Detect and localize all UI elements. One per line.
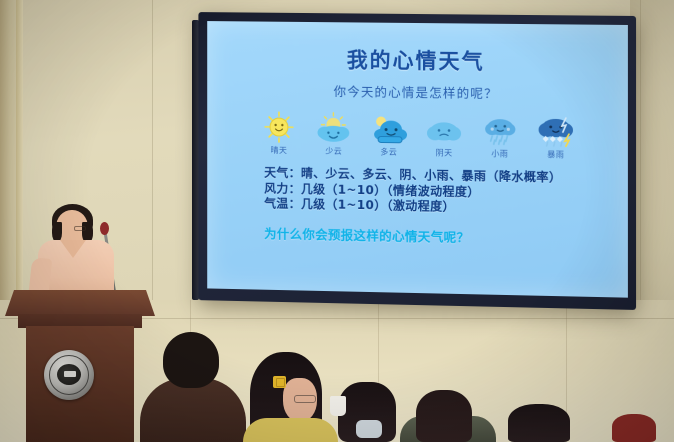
weather-item-rainstorm: 暴雨	[528, 115, 583, 161]
weather-label: 阴天	[417, 147, 471, 159]
weather-label: 小雨	[473, 148, 527, 160]
wall-seam	[152, 0, 153, 300]
wall-shadow-right	[630, 0, 674, 300]
lower-wall-seam	[566, 300, 567, 420]
slide-content: 我的心情天气 你今天的心情是怎样的呢？	[207, 21, 628, 298]
face-mask	[356, 420, 382, 438]
audience-member-5	[508, 404, 570, 442]
emblem-center	[57, 364, 81, 385]
slide-text-block: 天气：晴、少云、多云、阴、小雨、暴雨（降水概率） 风力：几级（1~10）（情绪波…	[264, 166, 611, 249]
university-emblem	[44, 350, 94, 400]
podium-top	[5, 290, 155, 316]
speaker-glasses	[74, 226, 86, 231]
weather-label: 多云	[362, 146, 416, 158]
paper-cup	[330, 396, 346, 416]
slide-question: 为什么你会预报这样的心情天气呢？	[264, 223, 611, 249]
audience-member-3	[416, 390, 472, 442]
hair-clip-icon	[273, 376, 286, 388]
sun-behind-cloud-icon	[307, 112, 361, 145]
overcast-cloud-icon	[417, 113, 471, 146]
sun-icon	[252, 111, 305, 144]
thunderstorm-icon	[528, 115, 583, 148]
slide-subtitle: 你今天的心情是怎样的呢？	[223, 80, 612, 104]
audience-sweater-2	[243, 418, 338, 442]
weather-item-cloudy: 多云	[362, 112, 416, 158]
light-rain-icon	[473, 114, 527, 147]
presentation-display[interactable]: 我的心情天气 你今天的心情是怎样的呢？	[198, 12, 636, 310]
weather-icon-row: 晴天	[252, 111, 583, 161]
microphone-icon	[100, 222, 109, 235]
weather-label: 少云	[307, 145, 361, 157]
audience-member-6	[612, 414, 656, 442]
display-panel: 我的心情天气 你今天的心情是怎样的呢？	[207, 21, 628, 298]
weather-item-few-clouds: 少云	[307, 112, 361, 158]
weather-item-overcast: 阴天	[417, 113, 471, 159]
cloudy-icon	[362, 112, 416, 145]
audience-glasses-2	[294, 395, 316, 403]
audience-head-1	[163, 332, 219, 388]
weather-label: 晴天	[252, 145, 305, 157]
speaker-hair-side-left	[52, 222, 62, 242]
weather-item-sunny: 晴天	[252, 111, 305, 156]
lecture-hall-photo: 我的心情天气 你今天的心情是怎样的呢？	[0, 0, 674, 442]
weather-item-light-rain: 小雨	[473, 114, 527, 160]
weather-label: 暴雨	[528, 149, 583, 161]
slide-title: 我的心情天气	[223, 43, 612, 77]
